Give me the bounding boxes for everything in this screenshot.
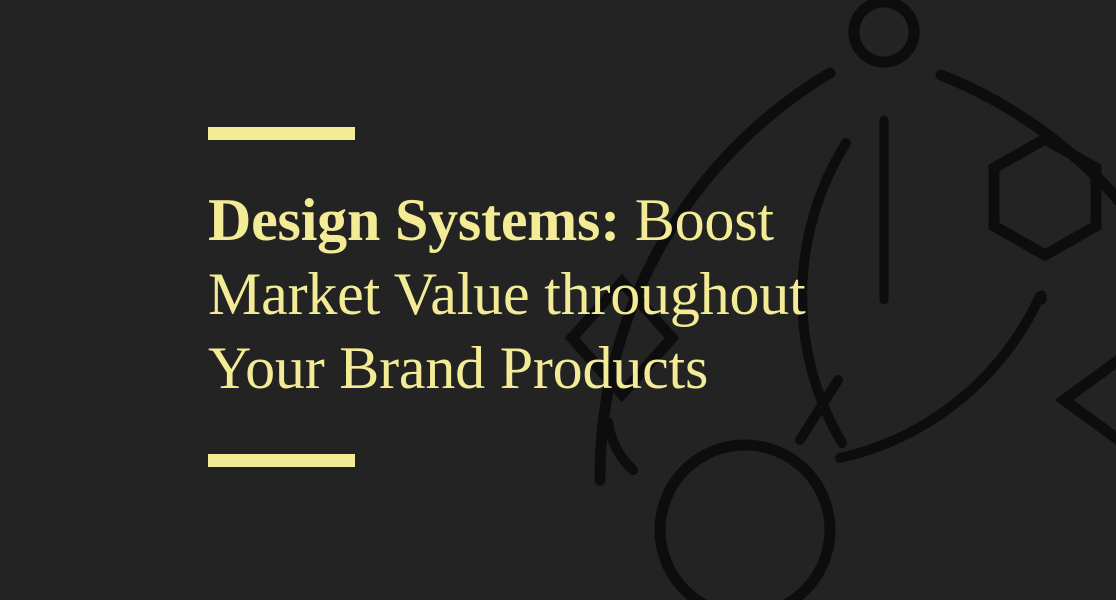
bottom-accent-rule — [208, 454, 355, 467]
page-title: Design Systems: Boost Market Value throu… — [208, 183, 908, 405]
hexagon — [994, 139, 1096, 255]
outer-arc — [941, 75, 1116, 330]
top-accent-rule — [208, 127, 355, 140]
slide-canvas: Design Systems: Boost Market Value throu… — [0, 0, 1116, 600]
content-column: Design Systems: Boost Market Value throu… — [208, 0, 908, 600]
page-title-emphasis: Design Systems: — [208, 187, 620, 253]
chevron-right — [1064, 330, 1116, 470]
